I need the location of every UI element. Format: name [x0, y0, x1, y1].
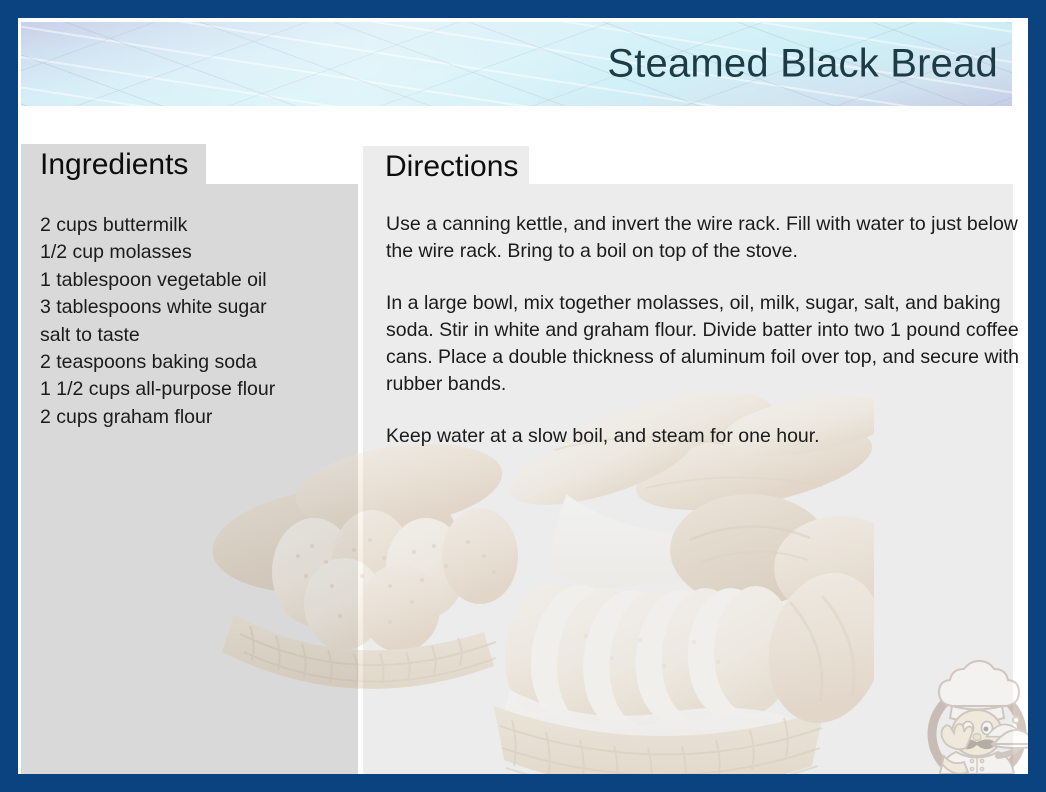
- ingredients-content: 2 cups buttermilk 1/2 cup molasses 1 tab…: [40, 212, 350, 431]
- ingredients-heading: Ingredients: [40, 148, 188, 182]
- recipe-card: Steamed Black Bread: [0, 0, 1046, 792]
- list-item: 2 teaspoons baking soda: [40, 349, 350, 376]
- list-item: 1 1/2 cups all-purpose flour: [40, 376, 350, 403]
- list-item: 2 cups graham flour: [40, 404, 350, 431]
- header-banner: Steamed Black Bread: [21, 22, 1012, 106]
- direction-step: Use a canning kettle, and invert the wir…: [386, 211, 1026, 265]
- list-item: 3 tablespoons white sugar: [40, 294, 350, 321]
- list-item: 1/2 cup molasses: [40, 239, 350, 266]
- direction-step: In a large bowl, mix together molasses, …: [386, 290, 1026, 398]
- ingredient-list: 2 cups buttermilk 1/2 cup molasses 1 tab…: [40, 212, 350, 431]
- tab-directions[interactable]: Directions: [363, 146, 529, 188]
- list-item: 1 tablespoon vegetable oil: [40, 267, 350, 294]
- direction-step: Keep water at a slow boil, and steam for…: [386, 423, 1026, 450]
- tab-ingredients[interactable]: Ingredients: [21, 144, 206, 186]
- directions-heading: Directions: [385, 150, 518, 184]
- directions-content: Use a canning kettle, and invert the wir…: [386, 211, 1026, 450]
- page-title: Steamed Black Bread: [607, 42, 998, 87]
- list-item: salt to taste: [40, 322, 350, 349]
- list-item: 2 cups buttermilk: [40, 212, 350, 239]
